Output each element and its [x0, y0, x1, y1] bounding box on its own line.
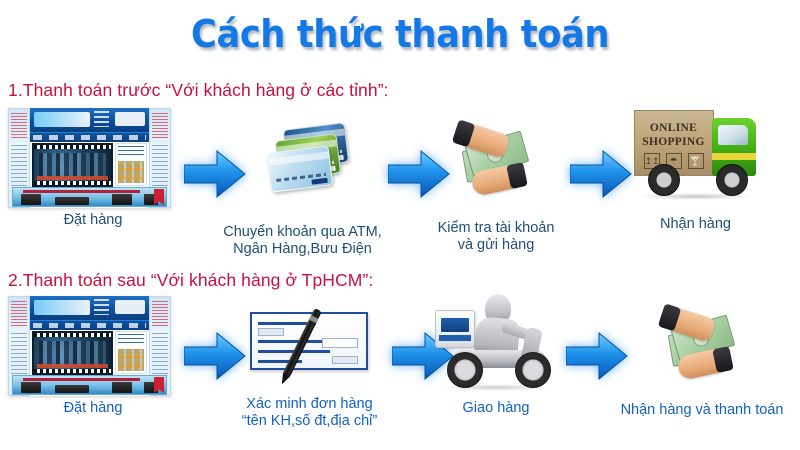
step-caption: Xác minh đơn hàng “tên KH,số đt,địa chỉ” [222, 396, 397, 430]
flow-row-2: Đặt hàng Xác minh đơn hàng “tên KH,số đt… [0, 296, 800, 448]
truck-box-line-1: ONLINE [635, 122, 713, 134]
step-1-4-receive-goods: ONLINE SHOPPING ↥↥ ☂ 🍸 Nhận hàng [608, 104, 783, 233]
website-screenshot-icon [8, 296, 178, 396]
step-2-1-order: Đặt hàng [8, 296, 178, 417]
step-2-4-receive-and-pay: Nhận hàng và thanh toán [608, 298, 796, 419]
step-caption: Kiểm tra tài khoản và gửi hàng [420, 220, 572, 254]
step-caption: Giao hàng [420, 400, 572, 417]
step-1-2-bank-transfer: Chuyển khoản qua ATM, Ngân Hàng,Bưu Điện [215, 110, 390, 258]
step-caption: Nhận hàng và thanh toán [608, 402, 796, 419]
truck-box-line-2: SHOPPING [635, 136, 713, 148]
hands-money-icon [608, 304, 796, 398]
step-caption: Chuyển khoản qua ATM, Ngân Hàng,Bưu Điện [215, 224, 390, 258]
flow-row-1: Đặt hàng Chuyển khoản qua ATM, Ngân Hàng… [0, 108, 800, 263]
step-2-3-delivery: Giao hàng [420, 292, 572, 417]
website-screenshot-icon [8, 108, 178, 208]
section-2-heading: 2.Thanh toán sau “Với khách hàng ở TpHCM… [8, 270, 373, 291]
step-caption: Đặt hàng [8, 400, 178, 417]
shipping-symbol-fragile: 🍸 [688, 153, 704, 169]
step-caption: Đặt hàng [8, 212, 178, 229]
step-caption: Nhận hàng [608, 216, 783, 233]
hands-money-icon [420, 120, 572, 216]
section-1-heading: 1.Thanh toán trước “Với khách hàng ở các… [8, 80, 389, 101]
delivery-scooter-icon [420, 292, 572, 396]
step-2-2-verify-order: Xác minh đơn hàng “tên KH,số đt,địa chỉ” [222, 304, 397, 430]
credit-cards-icon [215, 124, 390, 220]
delivery-truck-icon: ONLINE SHOPPING ↥↥ ☂ 🍸 [608, 104, 783, 212]
payment-methods-slide: Cách thức thanh toán 1.Thanh toán trước … [0, 0, 800, 450]
page-title: Cách thức thanh toán [28, 12, 772, 56]
step-1-3-verify-and-ship: Kiểm tra tài khoản và gửi hàng [420, 110, 572, 254]
check-pen-icon [222, 304, 397, 392]
step-1-1-order: Đặt hàng [8, 108, 178, 229]
